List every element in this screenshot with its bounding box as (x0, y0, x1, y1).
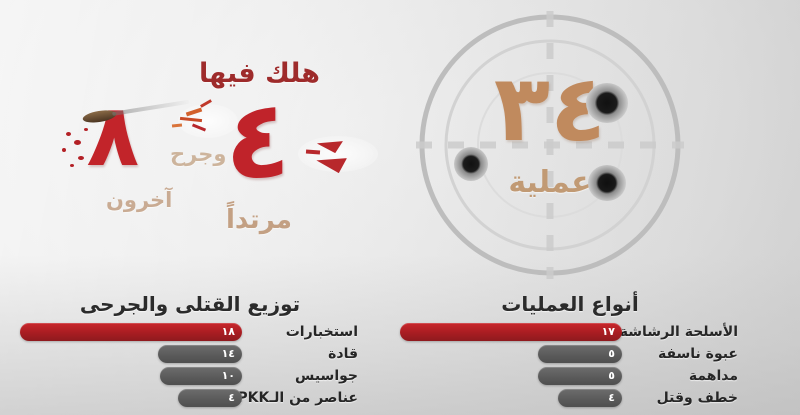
explosion-shard (186, 108, 202, 117)
bar-fill: ١٨ (20, 323, 242, 341)
operations-label: عملية (410, 165, 690, 200)
bar-label: جواسيس (242, 368, 360, 384)
bar-track: ٥ (400, 367, 622, 385)
chart-title: توزيع القتلى والجرحى (20, 292, 360, 316)
casualties-scene: هلك فيها ٨ آخرون وجرح ٤ مرتداً (60, 40, 400, 280)
bar-label: عناصر من الـPKK (242, 390, 360, 406)
explosion-shard (200, 99, 212, 108)
bar-fill: ٥ (538, 345, 622, 363)
others-count: ٨ (86, 98, 143, 175)
bar-fill: ٤ (558, 389, 622, 407)
bar-track: ٥ (400, 345, 622, 363)
target-scene: ٣٤ عملية (410, 5, 690, 285)
blood-splatter (70, 164, 74, 167)
bar-row: خطف وقتل ٤ (400, 388, 740, 408)
bar-value: ١٤ (222, 345, 242, 363)
chart-title: أنواع العمليات (400, 292, 740, 316)
blood-splatter (66, 132, 71, 136)
bar-fill: ١٠ (160, 367, 242, 385)
bar-row: الأسلحة الرشاشة ١٧ (400, 322, 740, 342)
bar-fill: ٥ (538, 367, 622, 385)
bar-label: استخبارات (242, 324, 360, 340)
bar-row: عناصر من الـPKK ٤ (20, 388, 360, 408)
others-label: آخرون (106, 188, 172, 212)
debris-fragment (315, 154, 347, 174)
bar-label: خطف وقتل (622, 390, 740, 406)
bar-label: قادة (242, 346, 360, 362)
debris-fragment (317, 137, 346, 157)
blood-splatter (78, 156, 84, 160)
bar-track: ٤ (20, 389, 242, 407)
bar-value: ٥ (608, 367, 622, 385)
bar-track: ١٨ (20, 323, 242, 341)
debris-fragment (306, 150, 320, 155)
apostates-label: مرتداً (226, 205, 292, 235)
bar-row: عبوة ناسفة ٥ (400, 344, 740, 364)
chart-operation-types: أنواع العمليات الأسلحة الرشاشة ١٧ عبوة ن… (400, 292, 740, 412)
bar-row: مداهمة ٥ (400, 366, 740, 386)
bar-fill: ١٤ (158, 345, 242, 363)
explosion-shard (180, 117, 202, 122)
explosion-shard (172, 123, 182, 127)
bar-row: استخبارات ١٨ (20, 322, 360, 342)
bar-track: ١٧ (400, 323, 622, 341)
bar-row: جواسيس ١٠ (20, 366, 360, 386)
bar-value: ١٧ (602, 323, 622, 341)
bar-label: مداهمة (622, 368, 740, 384)
blood-splatter (62, 148, 66, 152)
bar-value: ١٨ (222, 323, 242, 341)
operations-count: ٣٤ (410, 63, 690, 155)
apostates-count: ٤ (225, 92, 291, 189)
blood-splatter (74, 140, 81, 145)
bar-value: ١٠ (222, 367, 242, 385)
bar-label: الأسلحة الرشاشة (622, 324, 740, 340)
bar-value: ٥ (608, 345, 622, 363)
bar-fill: ١٧ (400, 323, 622, 341)
bar-value: ٤ (608, 389, 622, 407)
bar-label: عبوة ناسفة (622, 346, 740, 362)
debris-smoke (298, 136, 378, 172)
chart-casualty-distribution: توزيع القتلى والجرحى استخبارات ١٨ قادة ١… (20, 292, 360, 412)
bar-row: قادة ١٤ (20, 344, 360, 364)
wounded-connector-label: وجرح (170, 142, 226, 166)
bar-fill: ٤ (178, 389, 242, 407)
bar-track: ١٤ (20, 345, 242, 363)
explosion-shard (192, 123, 206, 131)
infographic-canvas: هلك فيها ٨ آخرون وجرح ٤ مرتداً (0, 0, 800, 415)
bar-track: ١٠ (20, 367, 242, 385)
bar-track: ٤ (400, 389, 622, 407)
bar-value: ٤ (228, 389, 242, 407)
